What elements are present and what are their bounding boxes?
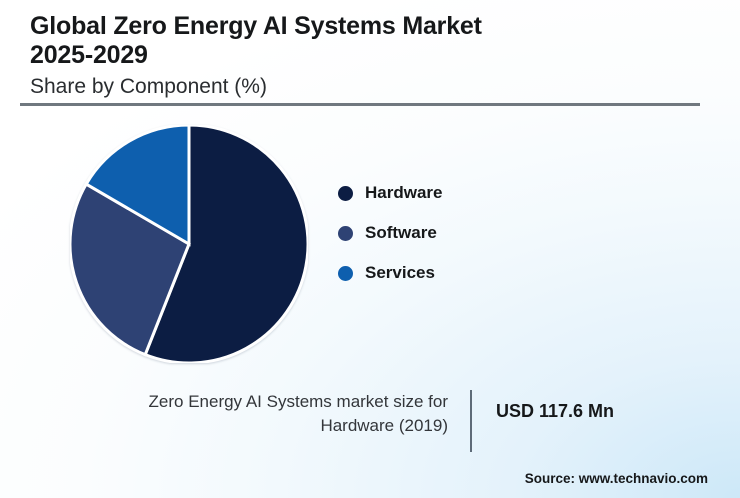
chart-area: Hardware Software Services (0, 118, 740, 373)
legend-dot-software-icon (338, 226, 353, 241)
chart-header: Global Zero Energy AI Systems Market 202… (30, 12, 710, 99)
page-title-line-1: Global Zero Energy AI Systems Market (30, 12, 710, 41)
market-size-callout: Zero Energy AI Systems market size for H… (40, 390, 700, 452)
callout-value-wrap: USD 117.6 Mn (472, 390, 614, 422)
pie-chart-svg (70, 125, 308, 363)
legend-label-hardware: Hardware (365, 183, 442, 203)
callout-description: Zero Energy AI Systems market size for H… (40, 390, 470, 439)
source-label: Source: www.technavio.com (525, 471, 708, 486)
legend-item-services[interactable]: Services (338, 253, 442, 293)
infographic-root: Global Zero Energy AI Systems Market 202… (0, 0, 740, 498)
chart-legend: Hardware Software Services (338, 173, 442, 293)
header-divider (20, 103, 700, 106)
callout-description-line-1: Zero Energy AI Systems market size for (40, 390, 448, 414)
legend-item-software[interactable]: Software (338, 213, 442, 253)
page-subtitle: Share by Component (%) (30, 74, 710, 100)
legend-label-services: Services (365, 263, 435, 283)
page-title-line-2: 2025-2029 (30, 41, 710, 70)
legend-item-hardware[interactable]: Hardware (338, 173, 442, 213)
legend-dot-hardware-icon (338, 186, 353, 201)
pie-chart (70, 125, 308, 363)
callout-description-line-2: Hardware (2019) (40, 414, 448, 438)
callout-value: USD 117.6 Mn (496, 401, 614, 422)
legend-label-software: Software (365, 223, 437, 243)
legend-dot-services-icon (338, 266, 353, 281)
